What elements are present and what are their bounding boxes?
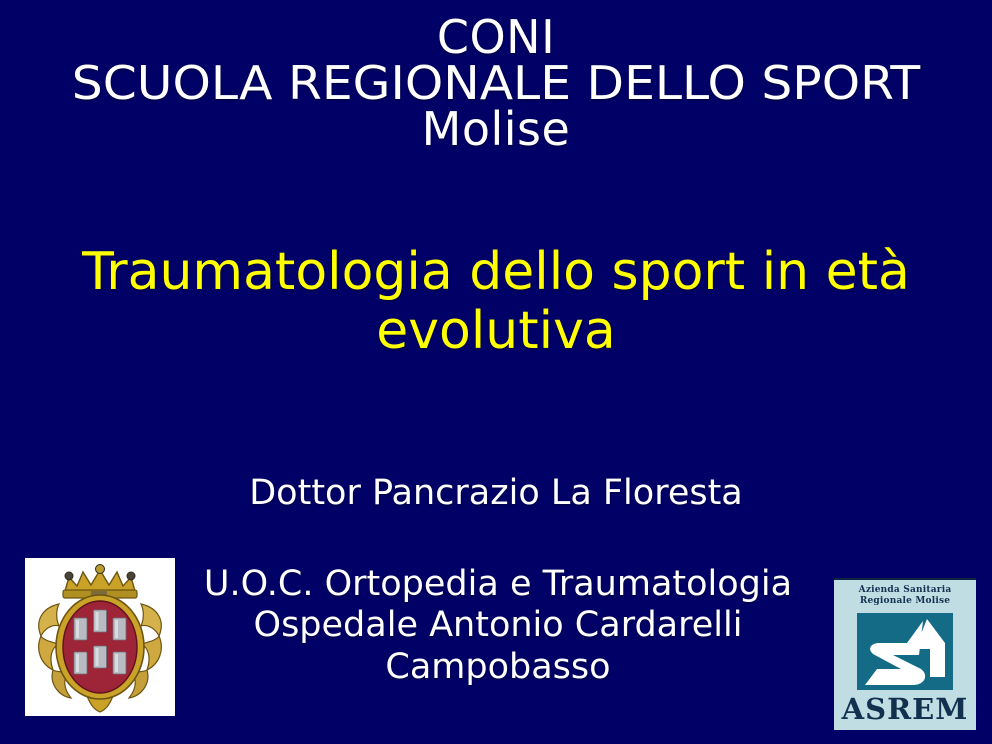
asrem-logo: Azienda Sanitaria Regionale Molise ASREM bbox=[834, 578, 976, 730]
asrem-wordmark: ASREM bbox=[834, 692, 976, 726]
header-line-coni: CONI bbox=[0, 14, 992, 60]
asrem-symbol-icon bbox=[857, 613, 953, 690]
affiliation-line-city: Campobasso bbox=[178, 647, 818, 688]
author-name: Dottor Pancrazio La Floresta bbox=[40, 472, 952, 514]
asrem-tagline: Azienda Sanitaria Regionale Molise bbox=[834, 585, 976, 607]
header-line-scuola: SCUOLA REGIONALE DELLO SPORT bbox=[0, 60, 992, 106]
affiliation-line-department: U.O.C. Ortopedia e Traumatologia bbox=[178, 564, 818, 605]
slide-title: Traumatologia dello sport in età evoluti… bbox=[40, 243, 952, 362]
affiliation-line-hospital: Ospedale Antonio Cardarelli bbox=[178, 605, 818, 646]
asrem-tagline-line-1: Azienda Sanitaria bbox=[834, 585, 976, 596]
affiliation-block: U.O.C. Ortopedia e Traumatologia Ospedal… bbox=[178, 564, 818, 688]
slide-header: CONI SCUOLA REGIONALE DELLO SPORT Molise bbox=[0, 14, 992, 152]
coat-of-arms-logo bbox=[25, 558, 175, 716]
header-line-molise: Molise bbox=[0, 106, 992, 152]
asrem-tagline-line-2: Regionale Molise bbox=[834, 596, 976, 607]
coat-of-arms-icon bbox=[25, 558, 175, 716]
presentation-slide: CONI SCUOLA REGIONALE DELLO SPORT Molise… bbox=[0, 0, 992, 744]
